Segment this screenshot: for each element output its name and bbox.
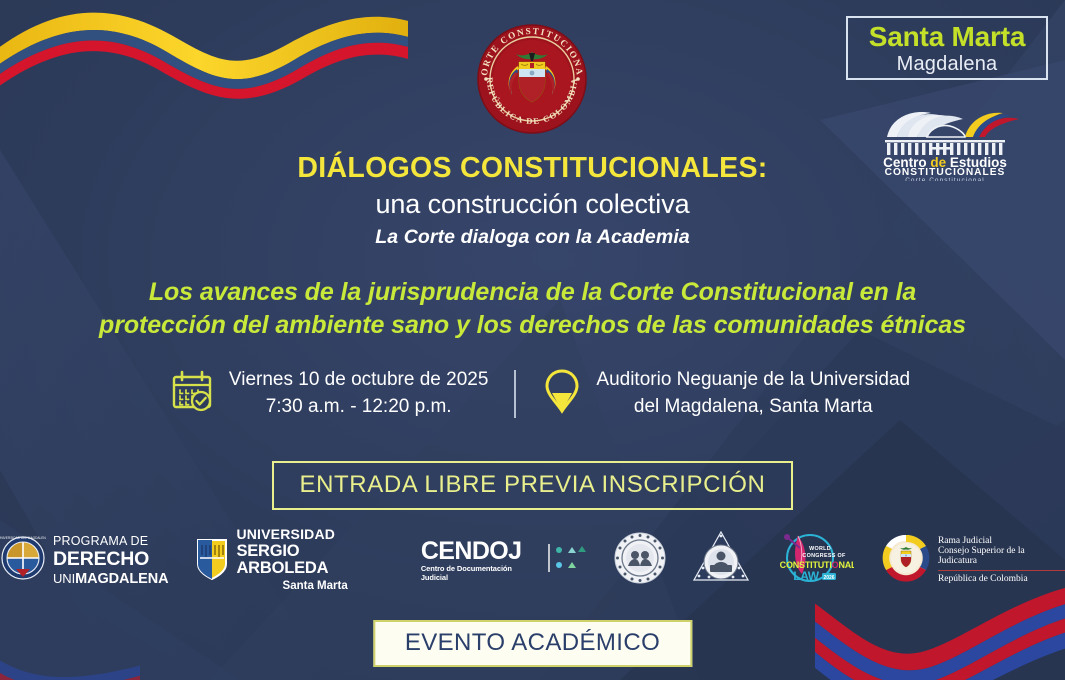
cendoj-dots-icon	[547, 538, 587, 583]
sergio-line-3: Santa Marta	[236, 580, 393, 592]
event-location-block: Auditorio Neguanje de la Universidad del…	[542, 366, 910, 421]
event-topic-line-2: protección del ambiente sano y los derec…	[72, 309, 993, 342]
location-pin-icon	[542, 366, 582, 421]
sergio-line-2: SERGIO ARBOLEDA	[236, 543, 393, 579]
sergio-line-1: UNIVERSIDAD	[236, 527, 393, 542]
institutional-seal-one-icon	[614, 532, 666, 589]
cendoj-wordmark: CENDOJ Centro de Documentación Judicial	[421, 538, 540, 581]
entrada-libre-banner: ENTRADA LIBRE PREVIA INSCRIPCIÓN	[272, 461, 794, 510]
cendoj-line-1: CENDOJ	[421, 538, 540, 565]
svg-text:WORLD: WORLD	[809, 546, 831, 552]
event-time-line: 7:30 a.m. - 12:20 p.m.	[266, 396, 452, 417]
sponsor-logo-rama-judicial: Rama Judicial Consejo Superior de la Jud…	[881, 530, 1065, 590]
headline-block: DIÁLOGOS CONSTITUCIONALES: una construcc…	[0, 152, 1065, 249]
event-location-line-1: Auditorio Neguanje de la Universidad	[596, 369, 910, 390]
info-divider	[514, 370, 516, 418]
ribbon-decoration-bottom-left-icon	[0, 630, 140, 680]
corte-constitucional-seal-icon: CORTE CONSTITUCIONAL REPÚBLICA DE COLOMB…	[466, 22, 598, 137]
world-congress-constitutional-law-icon: WORLD CONGRESS OF CONSTITUTIONAL LAW 202…	[776, 530, 854, 591]
sponsor-logo-cendoj: CENDOJ Centro de Documentación Judicial	[421, 530, 587, 590]
svg-text:LAW: LAW	[793, 569, 820, 583]
event-info-row: Viernes 10 de octubre de 2025 7:30 a.m. …	[0, 366, 1065, 421]
event-date-line-1: Viernes 10 de octubre de 2025	[229, 369, 489, 390]
sponsor-logo-sergio-arboleda: UNIVERSIDAD SERGIO ARBOLEDA Santa Marta	[195, 530, 393, 590]
unimagdalena-crest-icon: UNIVERSIDAD DEL MAGDALENA	[0, 533, 46, 588]
sponsor-logo-unimagdalena: UNIVERSIDAD DEL MAGDALENA PROGRAMA DE DE…	[0, 530, 168, 590]
svg-text:CONGRESS OF: CONGRESS OF	[802, 553, 846, 559]
svg-text:2026: 2026	[823, 575, 834, 581]
sponsor-logo-seal-two	[693, 530, 749, 590]
event-topic-line-1: Los avances de la jurisprudencia de la C…	[72, 276, 993, 309]
event-topic: Los avances de la jurisprudencia de la C…	[72, 276, 993, 342]
cendoj-line-2: Centro de Documentación Judicial	[421, 565, 540, 581]
sponsor-logo-seal-one	[614, 530, 666, 590]
unimagdalena-wordmark: PROGRAMA DE DERECHO UNIMAGDALENA	[53, 532, 168, 588]
unimagdalena-line-2: DERECHO	[53, 548, 149, 570]
unimagdalena-line-1: PROGRAMA DE	[53, 534, 148, 548]
santa-marta-badge: Santa Marta Magdalena	[846, 16, 1048, 80]
page-subtitle: una construcción colectiva	[0, 189, 1065, 220]
rama-judicial-crest-icon	[881, 533, 931, 588]
event-location-line-2: del Magdalena, Santa Marta	[634, 396, 873, 417]
sponsor-logo-world-congress: WORLD CONGRESS OF CONSTITUTIONAL LAW 202…	[776, 530, 854, 590]
unimagdalena-line-3: UNIMAGDALENA	[53, 571, 168, 586]
evento-academico-banner: EVENTO ACADÉMICO	[373, 620, 692, 667]
sergio-arboleda-wordmark: UNIVERSIDAD SERGIO ARBOLEDA Santa Marta	[236, 527, 393, 592]
institutional-seal-two-icon	[693, 531, 749, 590]
svg-text:UNIVERSIDAD DEL MAGDALENA: UNIVERSIDAD DEL MAGDALENA	[0, 536, 46, 540]
badge-department: Magdalena	[897, 54, 998, 74]
event-date-block: Viernes 10 de octubre de 2025 7:30 a.m. …	[155, 367, 489, 421]
event-poster: CORTE CONSTITUCIONAL REPÚBLICA DE COLOMB…	[0, 0, 1065, 680]
badge-city: Santa Marta	[869, 23, 1026, 51]
calendar-check-icon	[169, 368, 215, 419]
page-title: DIÁLOGOS CONSTITUCIONALES:	[0, 152, 1065, 185]
event-date-text: Viernes 10 de octubre de 2025 7:30 a.m. …	[229, 367, 489, 421]
page-tagline: La Corte dialoga con la Academia	[0, 226, 1065, 249]
sponsor-logo-strip: UNIVERSIDAD DEL MAGDALENA PROGRAMA DE DE…	[0, 524, 1065, 596]
colombia-flag-ribbon-icon	[0, 0, 408, 104]
sergio-arboleda-shield-icon	[195, 536, 229, 585]
rama-line-1: Rama Judicial	[938, 536, 1065, 546]
event-location-text: Auditorio Neguanje de la Universidad del…	[596, 367, 910, 421]
rama-line-3: República de Colombia	[938, 570, 1065, 584]
rama-judicial-wordmark: Rama Judicial Consejo Superior de la Jud…	[938, 536, 1065, 585]
rama-line-2: Consejo Superior de la Judicatura	[938, 546, 1065, 567]
